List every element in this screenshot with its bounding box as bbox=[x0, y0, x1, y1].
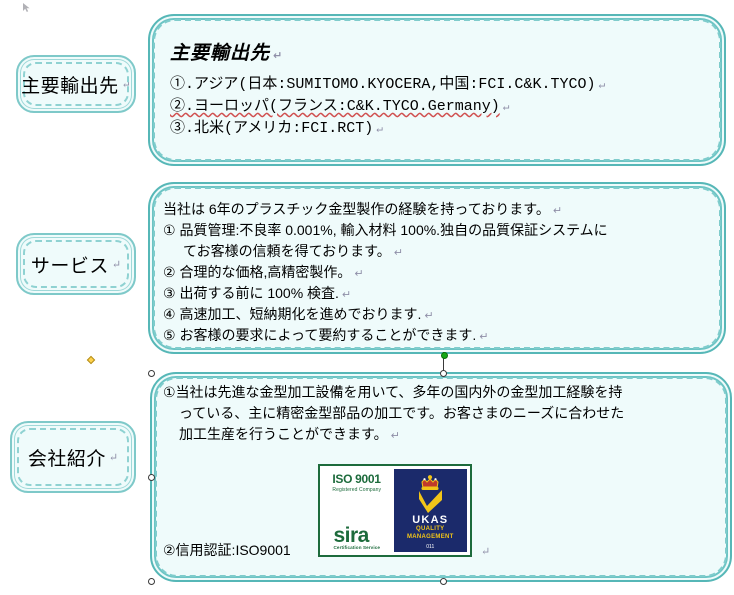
paragraph-mark bbox=[608, 226, 611, 238]
selection-handle-top-center[interactable] bbox=[440, 370, 447, 377]
service-body: 当社は 6年のプラスチック金型製作の経験を持っております。↵ ① 品質管理:不良… bbox=[163, 202, 693, 349]
label-pill-service[interactable]: サービス ↵ bbox=[16, 233, 136, 295]
paragraph-mark: ↵ bbox=[550, 205, 562, 217]
paragraph-mark: ↵ bbox=[351, 268, 363, 280]
sira-wordmark: sira bbox=[334, 527, 381, 545]
ukas-accreditation-number: 011 bbox=[426, 544, 434, 550]
label-pill-company-intro[interactable]: 会社紹介 ↵ bbox=[10, 421, 136, 493]
company-intro-line-2: っている、主に精密金型部品の加工です。お客さまのニーズに合わせた bbox=[163, 406, 703, 421]
paragraph-mark: ↵ bbox=[595, 80, 605, 92]
sira-logo-panel: ISO 9001 Registered Company sira Certifi… bbox=[320, 466, 394, 555]
sira-subtitle: Certification Service bbox=[334, 545, 381, 550]
paragraph-mark bbox=[622, 388, 625, 400]
export-destinations-heading: 主要輸出先↵ bbox=[170, 38, 690, 65]
ukas-crown-and-tick-icon bbox=[412, 473, 448, 513]
company-intro-credit-line: ②信用認証:ISO9001 bbox=[163, 540, 291, 560]
ukas-wordmark: UKAS bbox=[412, 514, 448, 526]
export-line-north-america: ③.北米(アメリカ:FCI.RCT)↵ bbox=[170, 121, 690, 136]
ukas-line-management: MANAGEMENT bbox=[407, 534, 454, 542]
label-pill-export-destinations[interactable]: 主要輸出先 ↵ bbox=[16, 55, 136, 113]
paragraph-mark: ↵ bbox=[391, 247, 403, 259]
service-item-1: ① 品質管理:不良率 0.001%, 輸入材料 100%.独自の品質保証システム… bbox=[163, 223, 693, 238]
iso-title-group: ISO 9001 Registered Company bbox=[332, 473, 381, 493]
shape-rotate-handle[interactable] bbox=[441, 352, 448, 359]
ukas-logo-panel: UKAS QUALITY MANAGEMENT 011 bbox=[394, 469, 467, 552]
ukas-line-quality: QUALITY bbox=[416, 526, 444, 534]
service-item-1-cont: てお客様の信頼を得ております。↵ bbox=[163, 244, 693, 259]
paragraph-mark: ↵ bbox=[339, 289, 351, 301]
paragraph-mark: ↵ bbox=[119, 78, 131, 91]
service-item-3: ③ 出荷する前に 100% 検査.↵ bbox=[163, 286, 693, 301]
export-line-asia: ①.アジア(日本:SUMITOMO.KYOCERA,中国:FCI.C&K.TYC… bbox=[170, 77, 690, 92]
paragraph-mark: ↵ bbox=[109, 258, 121, 271]
selection-handle-bottom-center[interactable] bbox=[440, 578, 447, 585]
paragraph-mark: ↵ bbox=[476, 331, 488, 343]
paragraph-mark: ↵ bbox=[388, 430, 400, 442]
paragraph-mark: ↵ bbox=[421, 310, 433, 322]
export-line-europe: ②.ヨーロッパ(フランス:C&K.TYCO.Germany)↵ bbox=[170, 99, 690, 114]
paragraph-mark: ↵ bbox=[373, 124, 383, 136]
iso9001-ukas-certification-image: ISO 9001 Registered Company sira Certifi… bbox=[318, 464, 472, 557]
paragraph-mark: ↵ bbox=[478, 545, 490, 558]
selection-handle-middle-left[interactable] bbox=[148, 474, 155, 481]
paragraph-mark: ↵ bbox=[270, 50, 283, 62]
paragraph-mark: ↵ bbox=[106, 451, 118, 464]
service-item-4: ④ 高速加工、短納期化を進めでおります.↵ bbox=[163, 307, 693, 322]
paragraph-mark: ↵ bbox=[500, 102, 510, 114]
sira-brand-group: sira Certification Service bbox=[334, 527, 381, 550]
iso-subtitle: Registered Company bbox=[332, 487, 381, 493]
service-intro: 当社は 6年のプラスチック金型製作の経験を持っております。↵ bbox=[163, 202, 693, 217]
service-item-2: ② 合理的な価格,高精密製作。↵ bbox=[163, 265, 693, 280]
shape-adjust-handle[interactable] bbox=[87, 356, 95, 364]
selection-handle-bottom-left[interactable] bbox=[148, 578, 155, 585]
paragraph-mark bbox=[624, 409, 627, 421]
company-intro-line-1: ①当社は先進な金型加工設備を用いて、多年の国内外の金型加工経験を持 bbox=[163, 385, 703, 400]
label-pill-text-company-intro: 会社紹介 bbox=[28, 444, 106, 471]
selection-handle-top-left[interactable] bbox=[148, 370, 155, 377]
service-item-5: ⑤ お客様の要求によって要約することができます.↵ bbox=[163, 328, 693, 343]
iso-title: ISO 9001 bbox=[332, 473, 381, 485]
company-intro-body: ①当社は先進な金型加工設備を用いて、多年の国内外の金型加工経験を持 っている、主… bbox=[163, 385, 703, 448]
company-intro-line-3: 加工生産を行うことができます。↵ bbox=[163, 427, 703, 442]
export-destinations-body: 主要輸出先↵ ①.アジア(日本:SUMITOMO.KYOCERA,中国:FCI.… bbox=[170, 38, 690, 143]
label-pill-text-service: サービス bbox=[31, 251, 109, 278]
label-pill-text-export-destinations: 主要輸出先 bbox=[21, 71, 119, 98]
cursor-artifact-icon bbox=[22, 2, 34, 14]
